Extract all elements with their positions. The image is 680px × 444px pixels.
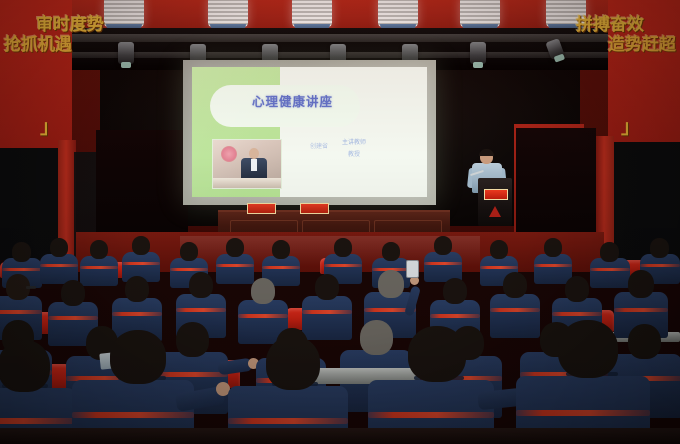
- slide-photo: [212, 139, 282, 189]
- person-head: [272, 240, 290, 259]
- podium: [478, 178, 512, 226]
- uniform-stripe: [228, 418, 348, 424]
- slide-subtitle-left: 创建省: [310, 141, 328, 150]
- person-head: [600, 242, 619, 262]
- uniform-stripe: [238, 314, 288, 318]
- person-head: [50, 238, 68, 257]
- uniform-stripe: [72, 412, 194, 418]
- ceiling-light-icon: [104, 0, 144, 27]
- spotlight-icon: [470, 42, 486, 64]
- banner-right-outer-text: 造势赶超: [608, 36, 676, 55]
- banner-text-left-inner: 审时度势: [36, 16, 104, 35]
- uniform-stripe: [176, 308, 226, 312]
- person-head: [125, 276, 149, 302]
- slide-subtitle-right-1: 主讲教师: [342, 137, 366, 146]
- uniform-stripe: [80, 266, 118, 269]
- person-torso: [534, 254, 572, 284]
- audience-area: [0, 236, 680, 444]
- person-torso: [302, 296, 352, 340]
- uniform-stripe: [614, 308, 668, 312]
- truss-bar: [60, 34, 620, 42]
- person-head: [189, 272, 213, 298]
- uniform-stripe: [480, 266, 518, 269]
- uniform-stripe: [324, 264, 362, 267]
- stage-nameplate: [247, 203, 276, 214]
- spotlight-icon: [118, 42, 134, 64]
- ceiling-light-icon: [292, 0, 332, 27]
- screen-surface: 心理健康讲座 创建省 主讲教师 教授: [183, 60, 436, 205]
- person-head: [90, 240, 108, 259]
- person-torso: [590, 258, 630, 288]
- person-head: [0, 340, 50, 392]
- uniform-stripe: [0, 310, 42, 314]
- uniform-stripe: [262, 266, 300, 269]
- auditorium-photo: 抢抓机遇 审时度势 」 拼搏奋效 造势赶超 」 心理健康讲座: [0, 0, 680, 444]
- person-head: [132, 236, 150, 255]
- person-head: [180, 242, 198, 261]
- uniform-stripe: [48, 316, 98, 320]
- podium-sign: [484, 189, 508, 200]
- uniform-stripe: [156, 372, 228, 377]
- uniform-stripe: [430, 314, 480, 318]
- person-head: [434, 236, 452, 255]
- uniform-stripe: [516, 410, 650, 416]
- person-head: [443, 278, 467, 304]
- person-head: [226, 238, 244, 257]
- foreground-floor: [0, 428, 680, 444]
- person-head: [266, 336, 320, 390]
- glasses-icon: [26, 286, 36, 289]
- uniform-stripe: [2, 268, 42, 271]
- photo-person-shirt: [251, 159, 257, 171]
- banner-text-right-inner: 拼搏奋效: [576, 16, 644, 35]
- person-head: [628, 324, 661, 359]
- banner-text-right-outer: 造势赶超: [608, 36, 676, 55]
- person-torso: [216, 254, 254, 284]
- uniform-stripe: [590, 268, 630, 271]
- uniform-stripe: [490, 308, 540, 312]
- person-head: [334, 238, 352, 257]
- person-head: [176, 322, 209, 357]
- uniform-stripe: [640, 264, 680, 267]
- person-head: [61, 280, 85, 306]
- banner-left-inner-text: 审时度势: [36, 16, 104, 35]
- person-head: [382, 242, 400, 261]
- person-head: [251, 278, 275, 304]
- speaker-hair: [479, 149, 494, 156]
- smartphone-icon: [406, 260, 419, 278]
- person-head: [650, 238, 669, 258]
- person-head: [110, 330, 166, 384]
- person-torso: [490, 294, 540, 338]
- person-head: [360, 320, 393, 355]
- uniform-stripe: [122, 262, 160, 265]
- photo-desk: [213, 178, 281, 188]
- ceiling-light-icon: [460, 0, 500, 27]
- uniform-stripe: [40, 264, 78, 267]
- slide-title: 心理健康讲座: [252, 91, 392, 110]
- banner-right-inner-text: 拼搏奋效: [576, 16, 644, 35]
- flower-icon: [221, 146, 237, 162]
- banner-text-left-outer: 抢抓机遇: [4, 36, 72, 55]
- person-head: [490, 240, 508, 259]
- person-head: [558, 320, 618, 378]
- uniform-stripe: [170, 268, 208, 271]
- uniform-stripe: [552, 312, 602, 316]
- uniform-stripe: [424, 262, 462, 265]
- person-arm-raised: [404, 285, 421, 316]
- banner-corner-mark-left: 」: [40, 112, 59, 139]
- projection-screen: 心理健康讲座 创建省 主讲教师 教授: [183, 60, 436, 205]
- uniform-stripe: [112, 312, 162, 316]
- person-head: [315, 274, 339, 300]
- ceiling-light-icon: [378, 0, 418, 27]
- uniform-stripe: [534, 264, 572, 267]
- person-head: [408, 326, 466, 382]
- uniform-stripe: [368, 412, 494, 418]
- banner-left-outer-text: 抢抓机遇: [4, 36, 72, 55]
- person-head: [544, 238, 562, 257]
- banner-corner-mark-right: 」: [621, 112, 640, 139]
- slide-subtitle-right-2: 教授: [348, 149, 360, 158]
- person-head: [503, 272, 527, 298]
- uniform-stripe: [302, 310, 352, 314]
- presentation-slide: 心理健康讲座 创建省 主讲教师 教授: [192, 67, 427, 197]
- uniform-stripe: [0, 418, 76, 424]
- uniform-stripe: [216, 264, 254, 267]
- person-head: [12, 242, 31, 262]
- person-head: [378, 270, 404, 298]
- photo-person-head: [249, 148, 259, 159]
- person-torso: [80, 256, 118, 286]
- ceiling-light-icon: [208, 0, 248, 27]
- person-head: [628, 270, 654, 298]
- stage-nameplate: [300, 203, 329, 214]
- person-head: [565, 276, 589, 302]
